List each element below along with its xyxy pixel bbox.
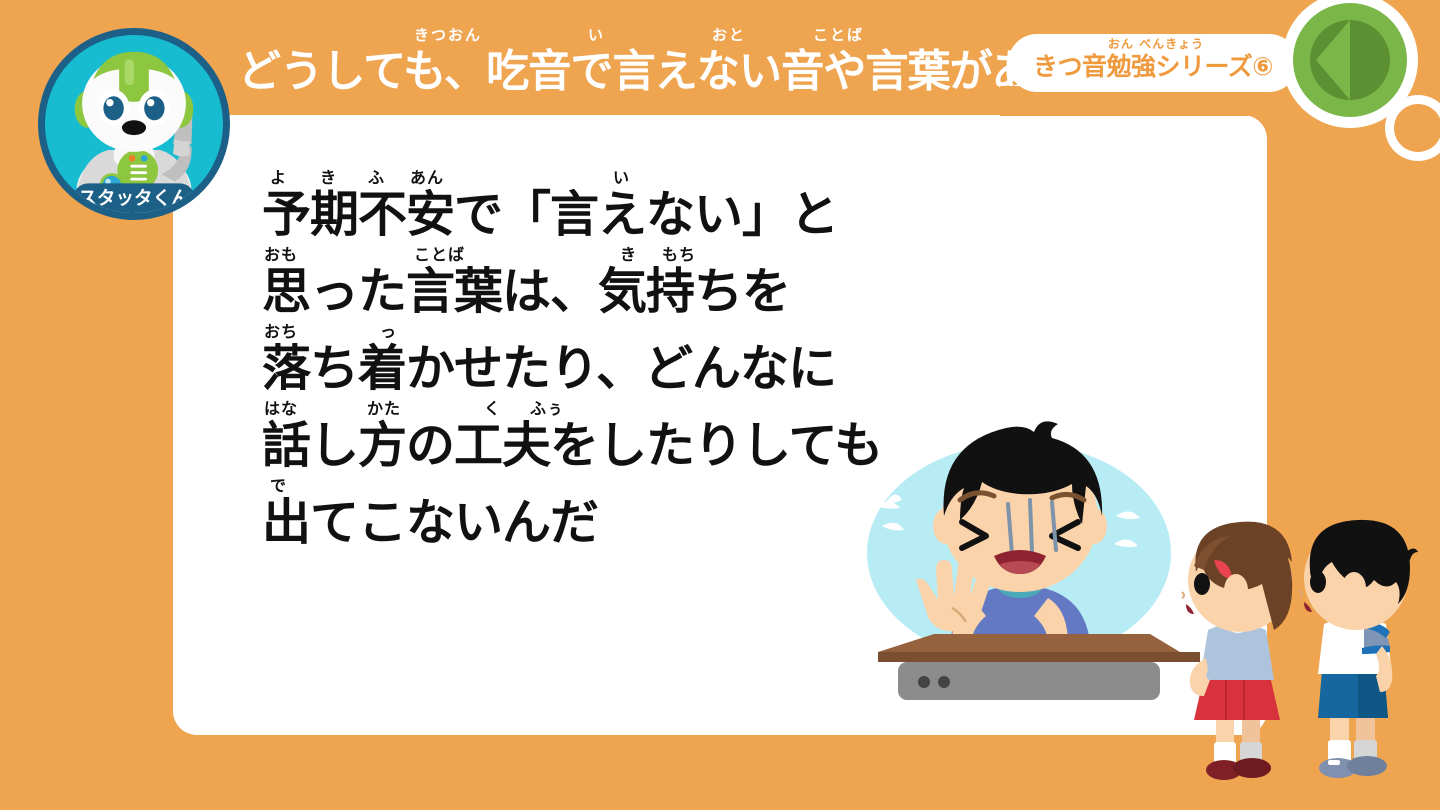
body-ruby-4-0: で xyxy=(270,478,287,494)
watching-girl-figure xyxy=(1182,522,1292,780)
body-line-2: おち っ 落ち着かせたり、どんなに xyxy=(262,330,962,396)
body-ruby-2-0: おち xyxy=(264,324,298,340)
body-line-text-3: 話し方の工夫をしたりしても xyxy=(262,421,882,470)
body-ruby-3-3: ふぅ xyxy=(530,401,564,417)
body-ruby-1-1: ことば xyxy=(414,247,465,263)
body-ruby-2-1: っ xyxy=(380,324,397,340)
body-ruby-0-0: よ xyxy=(270,170,287,186)
body-ruby-0-2: ふ xyxy=(368,170,385,186)
mascot-avatar: スタッタくん xyxy=(38,28,230,220)
green-arrow-decoration xyxy=(1282,0,1440,168)
page-title: きつおん い おと ことば どうしても、吃音で言えない音や言葉がある xyxy=(238,28,998,102)
body-ruby-0-4: い xyxy=(613,170,630,186)
body-ruby-0-3: あん xyxy=(410,170,444,186)
body-line-text-1: 思った言葉は、気持ちを xyxy=(262,267,790,316)
slide-root: きつおん い おと ことば どうしても、吃音で言えない音や言葉がある おん べん… xyxy=(0,0,1440,810)
body-line-1: おも ことば き もち 思った言葉は、気持ちを xyxy=(262,253,962,319)
watching-boy-figure xyxy=(1300,520,1418,778)
body-line-text-4: 出てこないんだ xyxy=(262,498,598,547)
body-ruby-1-2: き xyxy=(620,247,637,263)
title-text: どうしても、吃音で言えない音や言葉がある xyxy=(238,50,983,94)
series-badge-label: きつ音勉強シリーズ⑥ xyxy=(1008,54,1298,79)
title-ruby-1: い xyxy=(588,28,605,43)
series-badge-ruby: おん べんきょう xyxy=(1008,38,1298,50)
mascot-name-label: スタッタくん xyxy=(78,189,189,210)
body-ruby-1-0: おも xyxy=(264,247,298,263)
series-badge: おん べんきょう きつ音勉強シリーズ⑥ xyxy=(1008,34,1298,92)
body-line-text-0: 予期不安で「言えない」と xyxy=(262,190,838,239)
body-line-0: よ き ふ あん い 予期不安で「言えない」と xyxy=(262,176,962,242)
body-ruby-0-1: き xyxy=(320,170,337,186)
illustration-distressed-boy xyxy=(856,398,1200,728)
title-ruby-3: ことば xyxy=(813,28,864,43)
body-ruby-3-1: かた xyxy=(367,401,401,417)
body-ruby-3-2: く xyxy=(484,401,501,417)
body-ruby-1-3: もち xyxy=(662,247,696,263)
body-line-text-2: 落ち着かせたり、どんなに xyxy=(262,344,836,393)
illustration-watching-children xyxy=(1168,508,1440,798)
title-ruby-2: おと xyxy=(712,28,746,43)
title-ruby-0: きつおん xyxy=(414,28,482,43)
body-ruby-3-0: はな xyxy=(264,401,298,417)
